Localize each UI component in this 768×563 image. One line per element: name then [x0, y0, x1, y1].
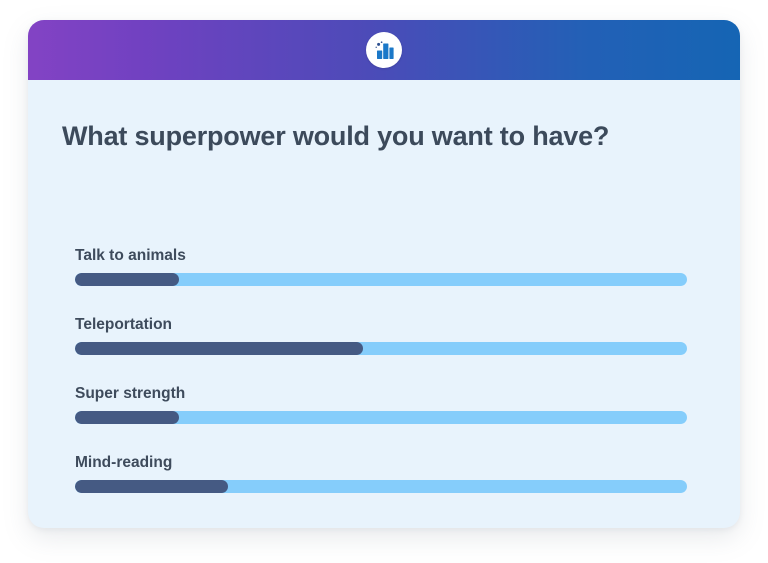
option-bar-track — [75, 273, 687, 286]
option-bar-track — [75, 342, 687, 355]
page-title: What superpower would you want to have? — [62, 120, 682, 152]
list-item[interactable]: Talk to animals — [75, 247, 687, 286]
option-label: Mind-reading — [75, 454, 687, 471]
card-header — [28, 20, 740, 80]
poll-card: What superpower would you want to have? … — [28, 20, 740, 528]
option-label: Teleportation — [75, 316, 687, 333]
option-bar-fill — [75, 342, 363, 355]
list-item[interactable]: Mind-reading — [75, 454, 687, 493]
screen-root: What superpower would you want to have? … — [0, 0, 768, 563]
poll-options-list: Talk to animals Teleportation Super stre… — [75, 247, 687, 493]
list-item[interactable]: Teleportation — [75, 316, 687, 355]
bar-chart-logo-icon — [366, 32, 402, 68]
card-body: What superpower would you want to have? … — [28, 80, 740, 528]
option-label: Talk to animals — [75, 247, 687, 264]
option-bar-fill — [75, 411, 179, 424]
option-bar-track — [75, 480, 687, 493]
option-bar-fill — [75, 480, 228, 493]
list-item[interactable]: Super strength — [75, 385, 687, 424]
option-bar-fill — [75, 273, 179, 286]
option-label: Super strength — [75, 385, 687, 402]
option-bar-track — [75, 411, 687, 424]
